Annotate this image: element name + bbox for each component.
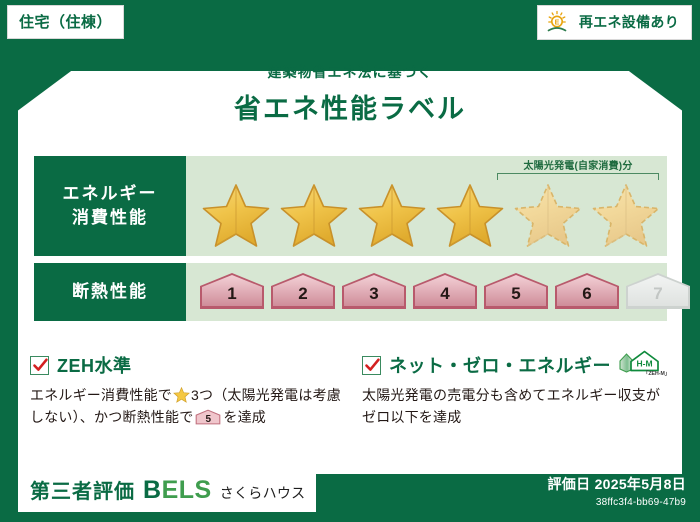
bels-logo-b: B xyxy=(143,476,162,504)
criterion-zeh-text-1: エネルギー消費性能で xyxy=(30,387,172,403)
bels-logo-els: ELS xyxy=(162,476,212,504)
grade-badge: 3 xyxy=(340,271,408,313)
evaluation-date-label: 評価日 xyxy=(547,476,590,492)
document-id: 38ffc3f4-bb69-47b9 xyxy=(547,497,686,508)
solar-bracket-line xyxy=(497,173,659,180)
grade-number: 2 xyxy=(269,284,337,304)
evaluation-date-value: 2025年5月8日 xyxy=(595,476,686,492)
energy-label-line1: エネルギー xyxy=(63,182,158,206)
criterion-net-zero-title: ネット・ゼロ・エネルギー xyxy=(389,352,611,378)
criterion-zeh-text-3: を達成 xyxy=(223,409,266,425)
grade-badge: 6 xyxy=(553,271,621,313)
criterion-zeh: ZEH水準 エネルギー消費性能で3つ（太陽光発電は考慮しない）、かつ断熱性能で5… xyxy=(30,352,348,428)
criterion-zeh-title: ZEH水準 xyxy=(57,352,132,378)
renewable-badge-label: 再エネ設備あり xyxy=(579,12,679,32)
svg-text:H-M: H-M xyxy=(636,358,652,368)
bels-footer-chip: 第三者評価 BELS さくらハウス xyxy=(18,469,316,512)
grade-number: 6 xyxy=(553,284,621,304)
checkbox-checked-icon xyxy=(30,356,49,375)
criterion-net-zero-body: 太陽光発電の売電分も含めてエネルギー収支がゼロ以下を達成 xyxy=(362,385,674,428)
star-filled xyxy=(354,180,430,252)
grade-number: 7 xyxy=(624,284,692,304)
title-subtitle: 建築物省エネ法に基づく xyxy=(0,62,700,82)
grade-badge: 1 xyxy=(198,271,266,313)
grade-number: 1 xyxy=(198,284,266,304)
third-party-label: 第三者評価 xyxy=(30,475,135,504)
sun-icon: E xyxy=(546,10,572,34)
energy-performance-row: エネルギー 消費性能 太陽光発電(自家消費)分 xyxy=(34,156,667,256)
grade-badge: 4 xyxy=(411,271,479,313)
insulation-grade-track: 1234567 xyxy=(186,263,667,321)
grade-list: 1234567 xyxy=(198,263,659,321)
insulation-label: 断熱性能 xyxy=(72,280,148,304)
inline-star-icon xyxy=(172,387,191,403)
criterion-net-zero-header: ネット・ゼロ・エネルギー H-M 「ZEH-M」 xyxy=(362,352,674,378)
grade-number: 5 xyxy=(482,284,550,304)
criterion-zeh-header: ZEH水準 xyxy=(30,352,348,378)
inline-grade-badge: 5 xyxy=(195,409,221,425)
checkbox-checked-icon xyxy=(362,356,381,375)
renewable-energy-badge: E 再エネ設備あり xyxy=(537,5,692,40)
grade-number: 4 xyxy=(411,284,479,304)
star-filled xyxy=(276,180,352,252)
insulation-performance-row: 断熱性能 1234567 xyxy=(34,263,667,321)
evaluation-date: 評価日 2025年5月8日 xyxy=(547,474,686,494)
grade-badge: 5 xyxy=(482,271,550,313)
energy-performance-label: 住宅（住棟） E 再エネ設備あり 建築物省エネ法に基づく xyxy=(0,0,700,522)
energy-star-track: 太陽光発電(自家消費)分 xyxy=(186,156,667,256)
energy-label-line2: 消費性能 xyxy=(72,206,148,230)
star-filled xyxy=(432,180,508,252)
criterion-zeh-body: エネルギー消費性能で3つ（太陽光発電は考慮しない）、かつ断熱性能で5を達成 xyxy=(30,385,348,428)
evaluation-info: 評価日 2025年5月8日 38ffc3f4-bb69-47b9 xyxy=(547,474,686,508)
svg-text:「ZEH-M」: 「ZEH-M」 xyxy=(643,369,670,377)
solar-bracket-label: 太陽光発電(自家消費)分 xyxy=(497,157,659,172)
star-solar xyxy=(510,180,586,252)
issuer-name: さくらハウス xyxy=(220,483,306,503)
solar-bracket: 太陽光発電(自家消費)分 xyxy=(497,157,659,180)
star-filled xyxy=(198,180,274,252)
title-block: 建築物省エネ法に基づく 省エネ性能ラベル xyxy=(0,62,700,126)
insulation-performance-label-box: 断熱性能 xyxy=(34,263,186,321)
criterion-net-zero: ネット・ゼロ・エネルギー H-M 「ZEH-M」 xyxy=(362,352,674,428)
grade-number: 3 xyxy=(340,284,408,304)
inline-grade-value: 5 xyxy=(195,412,221,428)
criterion-zeh-star-count: 3つ xyxy=(191,387,213,403)
star-rating xyxy=(198,180,659,252)
grade-badge: 2 xyxy=(269,271,337,313)
page-title: 省エネ性能ラベル xyxy=(0,87,700,126)
grade-badge: 7 xyxy=(624,271,692,313)
zeh-m-logo-icon: H-M 「ZEH-M」 xyxy=(619,348,671,383)
svg-text:E: E xyxy=(555,20,560,27)
star-solar xyxy=(588,180,664,252)
bels-logo: BELS xyxy=(143,476,212,505)
category-chip: 住宅（住棟） xyxy=(7,5,124,39)
energy-performance-label-box: エネルギー 消費性能 xyxy=(34,156,186,256)
